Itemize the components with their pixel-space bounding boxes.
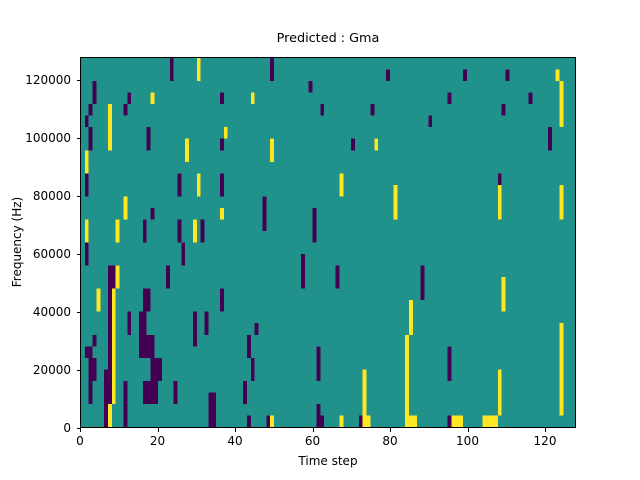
- x-tick-label: 120: [534, 434, 557, 448]
- x-tick-mark: [80, 428, 81, 432]
- x-tick-mark: [313, 428, 314, 432]
- x-tick-label: 100: [456, 434, 479, 448]
- heatmap-axes: [80, 57, 576, 428]
- matplotlib-figure: Predicted : Gma 020406080100120 02000040…: [0, 0, 640, 480]
- y-tick-label: 120000: [0, 73, 71, 87]
- x-tick-label: 60: [305, 434, 320, 448]
- heatmap-image: [81, 58, 575, 427]
- x-tick-mark: [158, 428, 159, 432]
- y-tick-mark: [77, 80, 81, 81]
- y-tick-mark: [77, 196, 81, 197]
- y-tick-mark: [77, 370, 81, 371]
- x-tick-mark: [390, 428, 391, 432]
- x-tick-label: 80: [382, 434, 397, 448]
- y-tick-mark: [77, 254, 81, 255]
- x-tick-label: 40: [227, 434, 242, 448]
- y-tick-mark: [77, 428, 81, 429]
- x-tick-label: 20: [150, 434, 165, 448]
- y-tick-mark: [77, 138, 81, 139]
- x-tick-label: 0: [76, 434, 84, 448]
- x-tick-mark: [468, 428, 469, 432]
- y-tick-label: 20000: [0, 363, 71, 377]
- page-title: Predicted : Gma: [80, 31, 576, 47]
- x-tick-mark: [545, 428, 546, 432]
- y-tick-label: 0: [0, 421, 71, 435]
- x-tick-mark: [235, 428, 236, 432]
- x-axis-label: Time step: [80, 454, 576, 468]
- y-axis-label: Frequency (Hz): [10, 132, 24, 352]
- y-tick-mark: [77, 312, 81, 313]
